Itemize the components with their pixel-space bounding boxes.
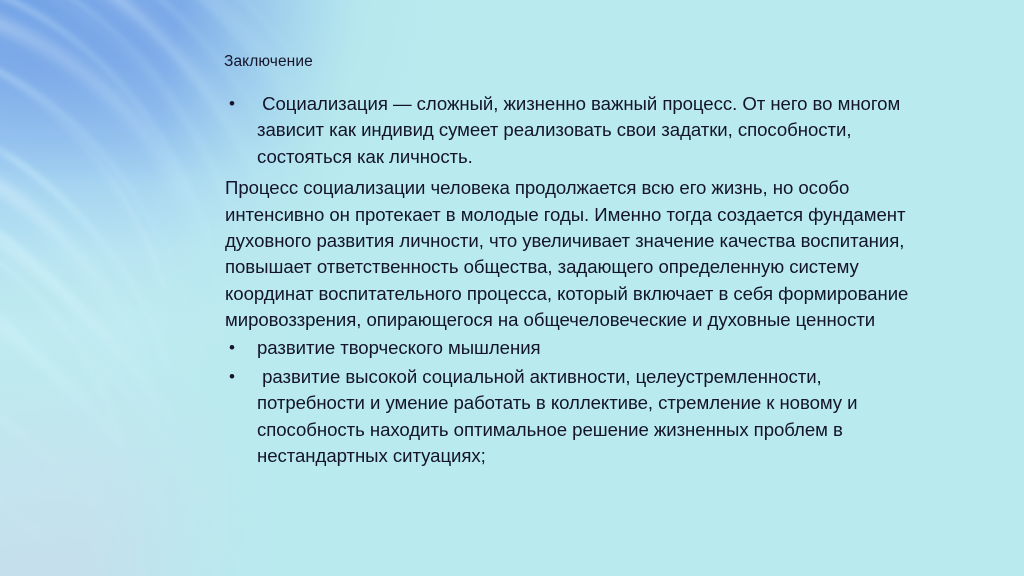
bullet-icon: • xyxy=(229,335,243,361)
list-item: • развитие высокой социальной активности… xyxy=(222,364,922,470)
bullet-icon: • xyxy=(229,91,243,117)
list-item: • развитие творческого мышления xyxy=(222,335,922,361)
bullet-icon: • xyxy=(229,364,243,390)
content-body: • Социализация — сложный, жизненно важны… xyxy=(222,91,922,470)
slide-content: Заключение • Социализация — сложный, жиз… xyxy=(222,52,922,470)
list-item: • Социализация — сложный, жизненно важны… xyxy=(222,91,922,170)
slide-canvas: Заключение • Социализация — сложный, жиз… xyxy=(0,0,1024,576)
list-item-text: Социализация — сложный, жизненно важный … xyxy=(257,91,922,170)
list-item-text: развитие творческого мышления xyxy=(257,335,922,361)
list-item-text: развитие высокой социальной активности, … xyxy=(257,364,922,470)
paragraph: Процесс социализации человека продолжает… xyxy=(222,175,922,333)
page-title: Заключение xyxy=(224,52,922,72)
paragraph-text: Процесс социализации человека продолжает… xyxy=(225,175,922,333)
